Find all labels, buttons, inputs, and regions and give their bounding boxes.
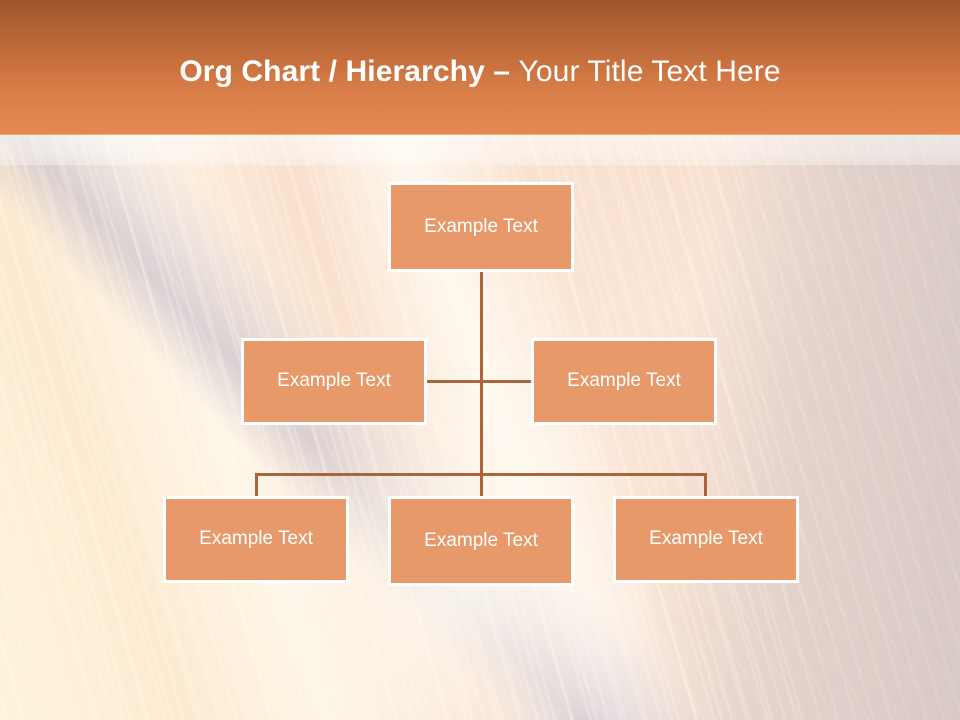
org-node-bottom-right[interactable]: Example Text [613,496,799,583]
org-node-label: Example Text [649,528,763,551]
connector-spur-mid-left [427,380,481,383]
slide-canvas: Org Chart / Hierarchy – Your Title Text … [0,0,960,720]
connector-trunk-top [480,272,483,496]
org-node-label: Example Text [199,528,313,551]
connector-drop-bottom-right [704,473,707,496]
org-chart: Example TextExample TextExample TextExam… [0,0,960,720]
org-node-label: Example Text [424,530,538,553]
org-node-label: Example Text [424,216,538,239]
connector-drop-bottom-mid [480,473,483,496]
org-node-bottom-center[interactable]: Example Text [388,496,574,586]
org-node-label: Example Text [567,370,681,393]
org-node-label: Example Text [277,370,391,393]
connector-spur-mid-right [480,380,531,383]
org-node-bottom-left[interactable]: Example Text [163,496,349,583]
org-node-mid-left[interactable]: Example Text [241,338,427,425]
org-node-top[interactable]: Example Text [388,182,574,272]
connector-drop-bottom-left [255,473,258,496]
org-node-mid-right[interactable]: Example Text [531,338,717,425]
